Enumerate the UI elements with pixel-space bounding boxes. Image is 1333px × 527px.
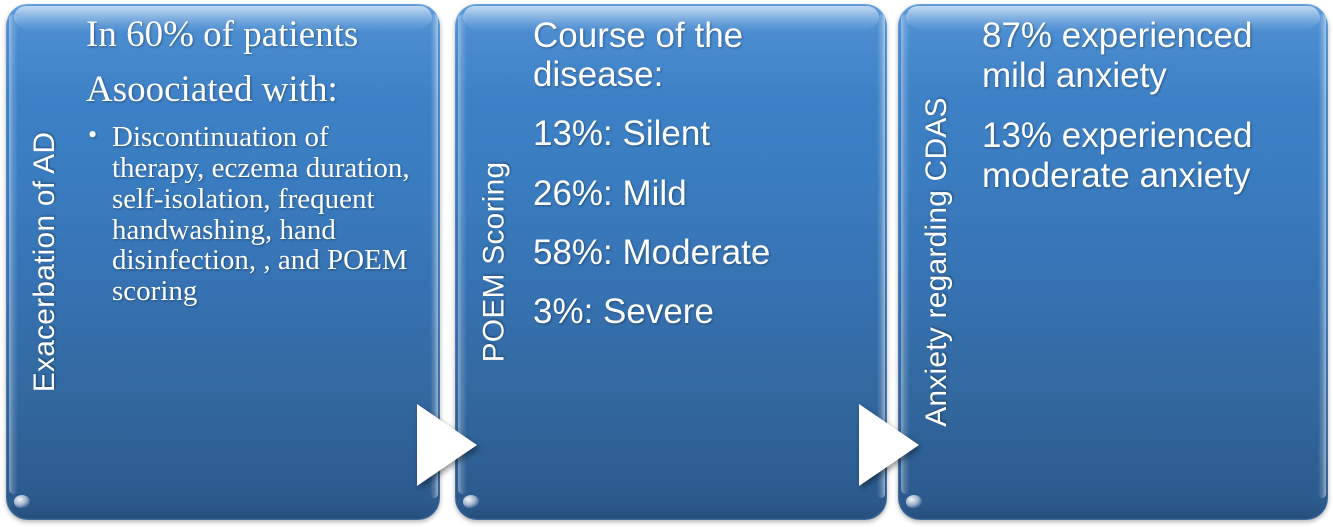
connector-arrow-2 (856, 401, 922, 489)
panel2-stat-mild: 26%: Mild (533, 174, 875, 213)
connector-arrow-1 (414, 401, 480, 489)
panel3-lead-text: 87% experienced mild anxiety (982, 16, 1322, 95)
panel-poem-scoring[interactable]: POEM Scoring Course of the disease: 13%:… (455, 4, 887, 520)
panel-content-poem-scoring: Course of the disease: 13%: Silent 26%: … (533, 4, 875, 520)
panel2-stat-severe: 3%: Severe (533, 292, 875, 331)
panel-content-anxiety-regarding-cdas: 87% experienced mild anxiety 13% experie… (982, 4, 1322, 520)
list-item: Discontinuation of therapy, eczema durat… (86, 122, 422, 306)
panel2-stat-moderate: 58%: Moderate (533, 233, 875, 272)
play-triangle-right-icon (856, 401, 922, 489)
panel1-lead-text: In 60% of patients (86, 16, 422, 54)
panel2-lead-text: Course of the disease: (533, 16, 875, 94)
panel-content-exacerbation-of-ad: In 60% of patients Asoociated with: Disc… (86, 4, 422, 520)
panel1-bullet-list: Discontinuation of therapy, eczema durat… (86, 122, 422, 306)
panel2-stat-silent: 13%: Silent (533, 114, 875, 153)
panel1-subhead-text: Asoociated with: (86, 71, 422, 109)
flow-diagram: Exacerbation of AD In 60% of patients As… (0, 0, 1333, 527)
play-triangle-right-icon (414, 401, 480, 489)
panel-anxiety-regarding-cdas[interactable]: Anxiety regarding CDAS 87% experienced m… (898, 4, 1328, 520)
panel-exacerbation-of-ad[interactable]: Exacerbation of AD In 60% of patients As… (6, 4, 440, 520)
panel3-stat-moderate: 13% experienced moderate anxiety (982, 116, 1322, 195)
